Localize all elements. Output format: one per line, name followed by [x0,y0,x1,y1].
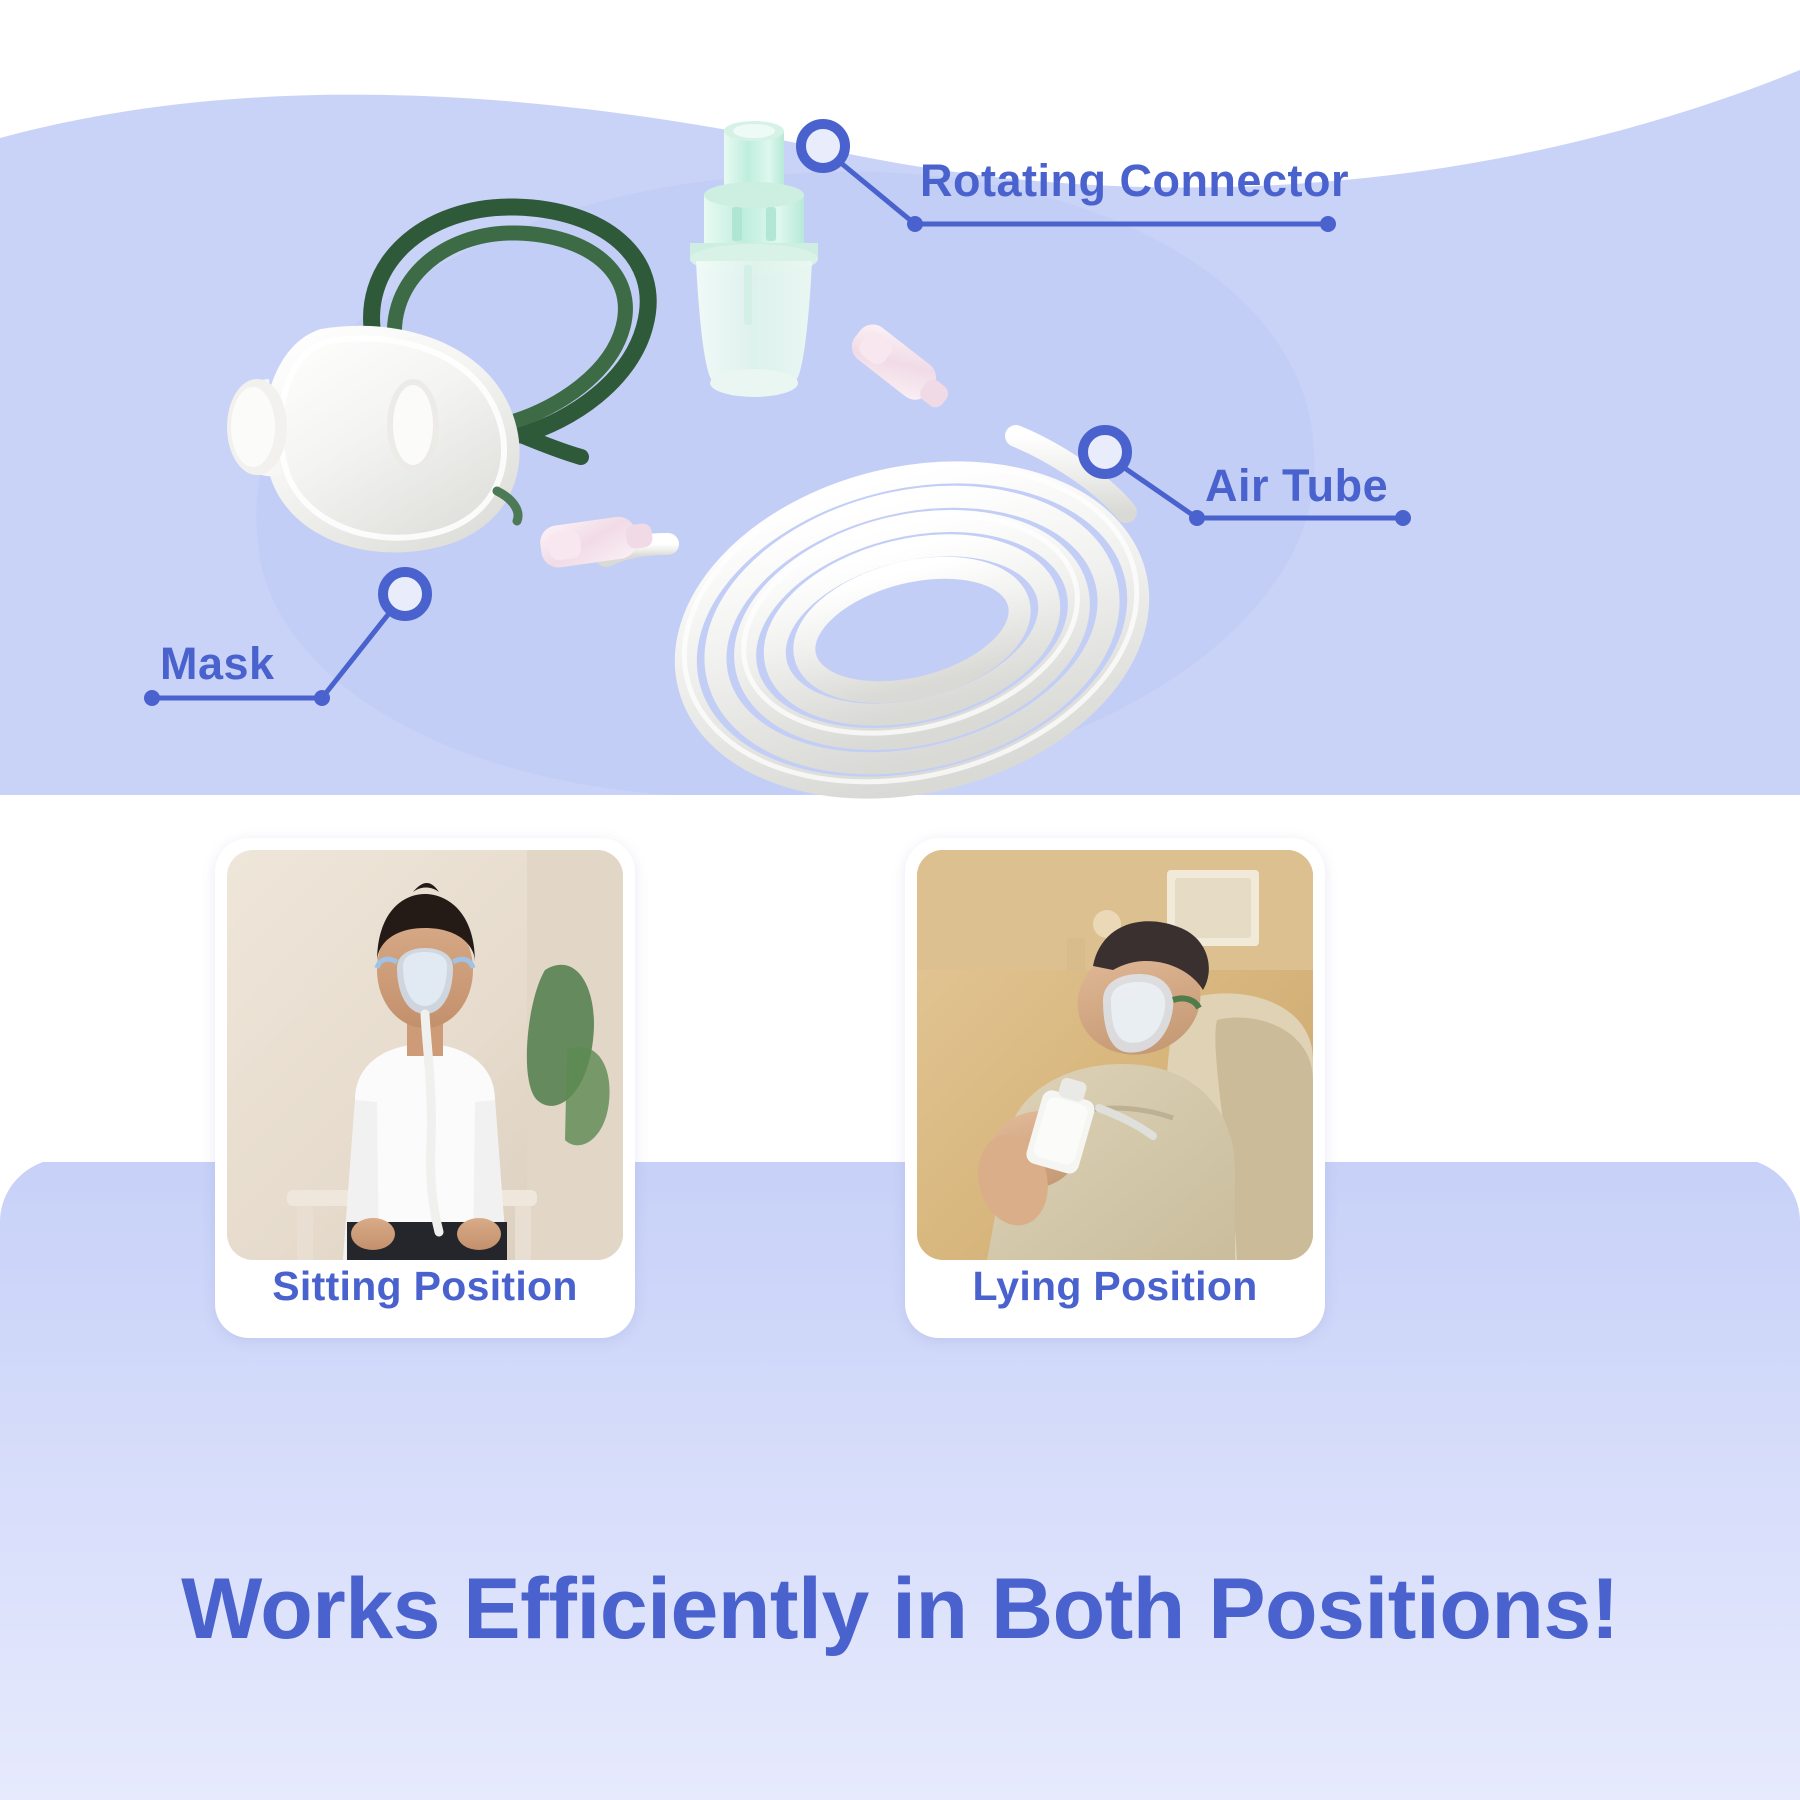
woman-lying-with-nebulizer-mask-photo [917,850,1313,1260]
woman-sitting-with-nebulizer-mask-photo [227,850,623,1260]
callout-label-air-tube: Air Tube [1205,460,1388,512]
position-card-lying[interactable]: Lying Position [905,838,1325,1338]
callout-label-rotating-connector: Rotating Connector [920,155,1349,207]
card-caption-sitting: Sitting Position [215,1263,635,1310]
card-caption-lying: Lying Position [905,1263,1325,1310]
headline-text: Works Efficiently in Both Positions! [0,1560,1800,1659]
callout-rotating-connector[interactable]: Rotating Connector [790,120,1350,260]
position-card-sitting[interactable]: Sitting Position [215,838,635,1338]
callout-mask[interactable]: Mask [140,570,440,720]
coiled-air-tube-icon [530,300,1210,810]
circle-marker-icon [383,572,427,616]
circle-marker-icon [801,124,845,168]
circle-marker-icon [1083,430,1127,474]
infographic-stage: Rotating Connector Air Tube Mask [0,0,1800,1800]
callout-label-mask: Mask [160,638,275,690]
nebulizer-mask-icon [225,315,555,565]
callout-air-tube[interactable]: Air Tube [1075,430,1425,540]
